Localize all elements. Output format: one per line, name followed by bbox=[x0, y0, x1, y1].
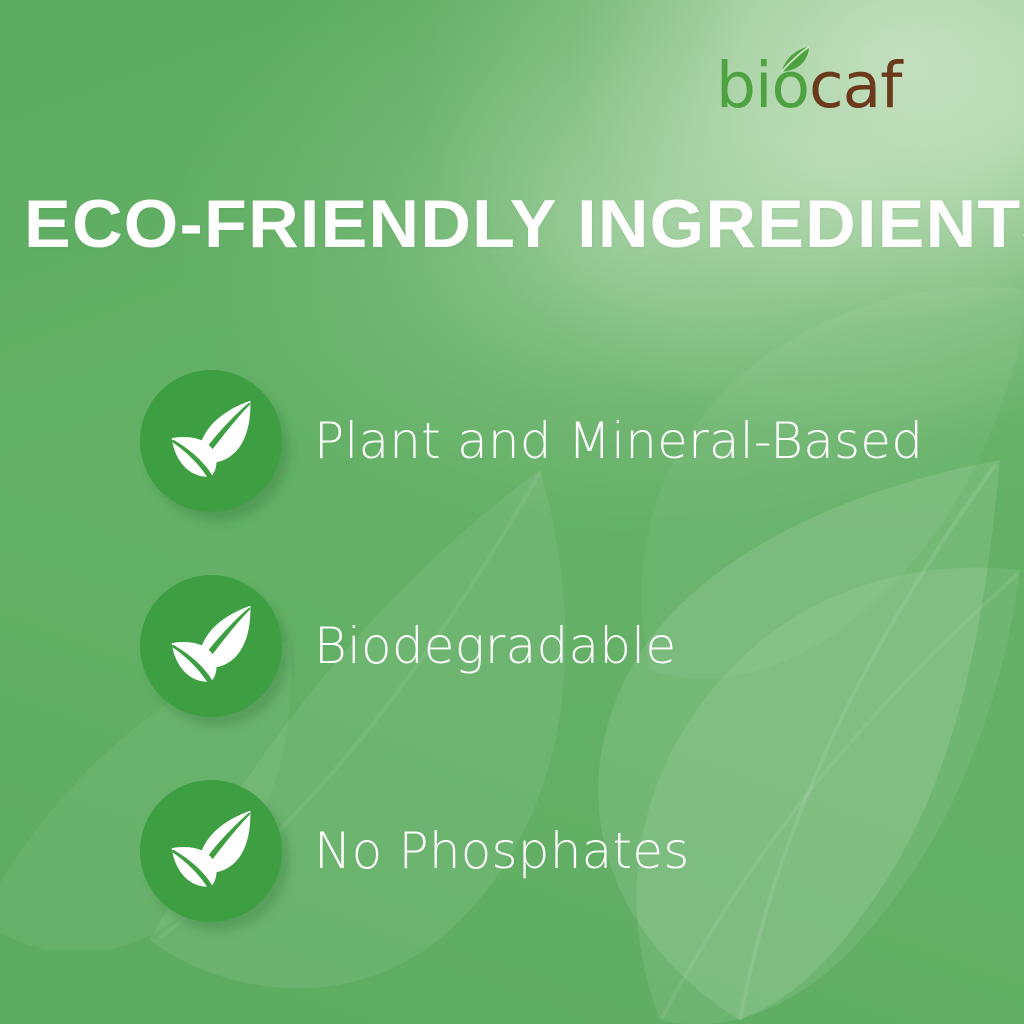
brand-logo[interactable]: biocaf bbox=[716, 48, 966, 124]
feature-badge-2 bbox=[140, 575, 282, 717]
feature-badge-3 bbox=[140, 780, 282, 922]
feature-row: Biodegradable bbox=[0, 543, 1024, 748]
feature-row: No Phosphates bbox=[0, 748, 1024, 953]
two-leaves-icon bbox=[164, 602, 258, 690]
feature-list: Plant and Mineral-Based Biodegradable bbox=[0, 338, 1024, 953]
two-leaves-icon bbox=[164, 807, 258, 895]
leaf-sprout-icon bbox=[778, 44, 812, 74]
feature-label: No Phosphates bbox=[314, 822, 689, 880]
two-leaves-icon bbox=[164, 397, 258, 485]
feature-label: Biodegradable bbox=[314, 617, 676, 675]
feature-row: Plant and Mineral-Based bbox=[0, 338, 1024, 543]
page-title: ECO-FRIENDLY INGREDIENTS bbox=[24, 186, 1024, 262]
logo-text-caf: caf bbox=[809, 49, 901, 122]
feature-badge-1 bbox=[140, 370, 282, 512]
logo-wordmark: biocaf bbox=[716, 48, 966, 124]
feature-label: Plant and Mineral-Based bbox=[314, 412, 923, 470]
eco-friendly-ingredients-poster: biocaf ECO-FRIENDLY INGREDIENTS Plant an… bbox=[0, 0, 1024, 1024]
